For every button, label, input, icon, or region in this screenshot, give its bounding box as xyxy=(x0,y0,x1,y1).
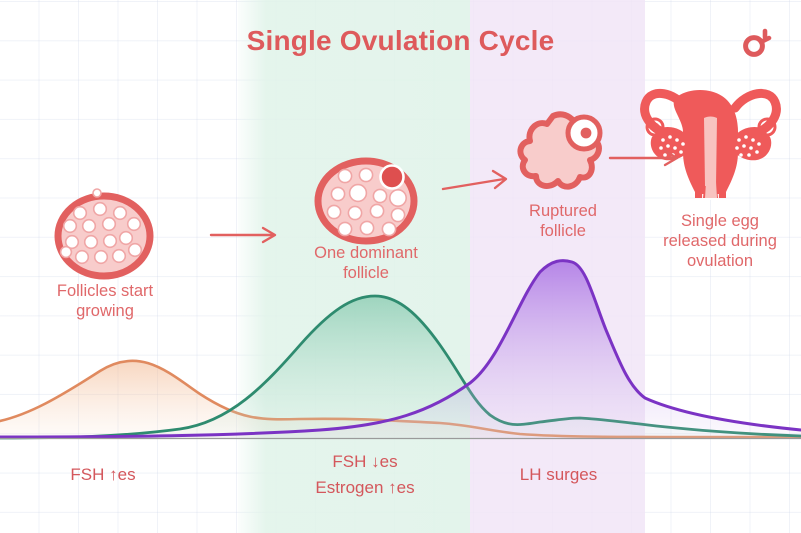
caption-follicles-start: Follicles start growing xyxy=(24,281,186,321)
caption-line: growing xyxy=(24,301,186,321)
ovary-dominant-follicle-icon xyxy=(318,161,414,241)
caption-ruptured-follicle: Ruptured follicle xyxy=(490,201,636,241)
phase-line: LH surges xyxy=(481,462,636,488)
ovary-follicles-start-icon xyxy=(58,189,150,276)
dominant-follicle xyxy=(381,166,404,189)
caption-line: Follicles start xyxy=(24,281,186,301)
caption-line: released during xyxy=(641,231,799,251)
caption-one-dominant: One dominant follicle xyxy=(285,243,447,283)
phase-label-fsh-falls-estrogen-rises: FSH ↓es Estrogen ↑es xyxy=(272,449,458,501)
caption-line: One dominant xyxy=(285,243,447,263)
page-title: Single Ovulation Cycle xyxy=(0,25,801,57)
arrow-3 xyxy=(610,151,677,165)
arrow-1 xyxy=(211,228,275,242)
infographic-canvas: Single Ovulation Cycle Follicles start g… xyxy=(0,0,801,533)
phase-line: Estrogen ↑es xyxy=(272,475,458,501)
caption-single-egg: Single egg released during ovulation xyxy=(641,211,799,271)
arrow-2 xyxy=(443,171,506,189)
egg-nucleus xyxy=(581,128,592,139)
phase-line: FSH ↓es xyxy=(272,449,458,475)
phase-label-lh-surges: LH surges xyxy=(481,462,636,488)
caption-line: ovulation xyxy=(641,251,799,271)
caption-line: follicle xyxy=(285,263,447,283)
ruptured-follicle-icon xyxy=(520,114,600,186)
caption-line: Ruptured xyxy=(490,201,636,221)
caption-line: follicle xyxy=(490,221,636,241)
phase-label-fsh-rises: FSH ↑es xyxy=(18,462,188,488)
uterus-icon xyxy=(645,90,777,200)
phase-line: FSH ↑es xyxy=(18,462,188,488)
caption-line: Single egg xyxy=(641,211,799,231)
